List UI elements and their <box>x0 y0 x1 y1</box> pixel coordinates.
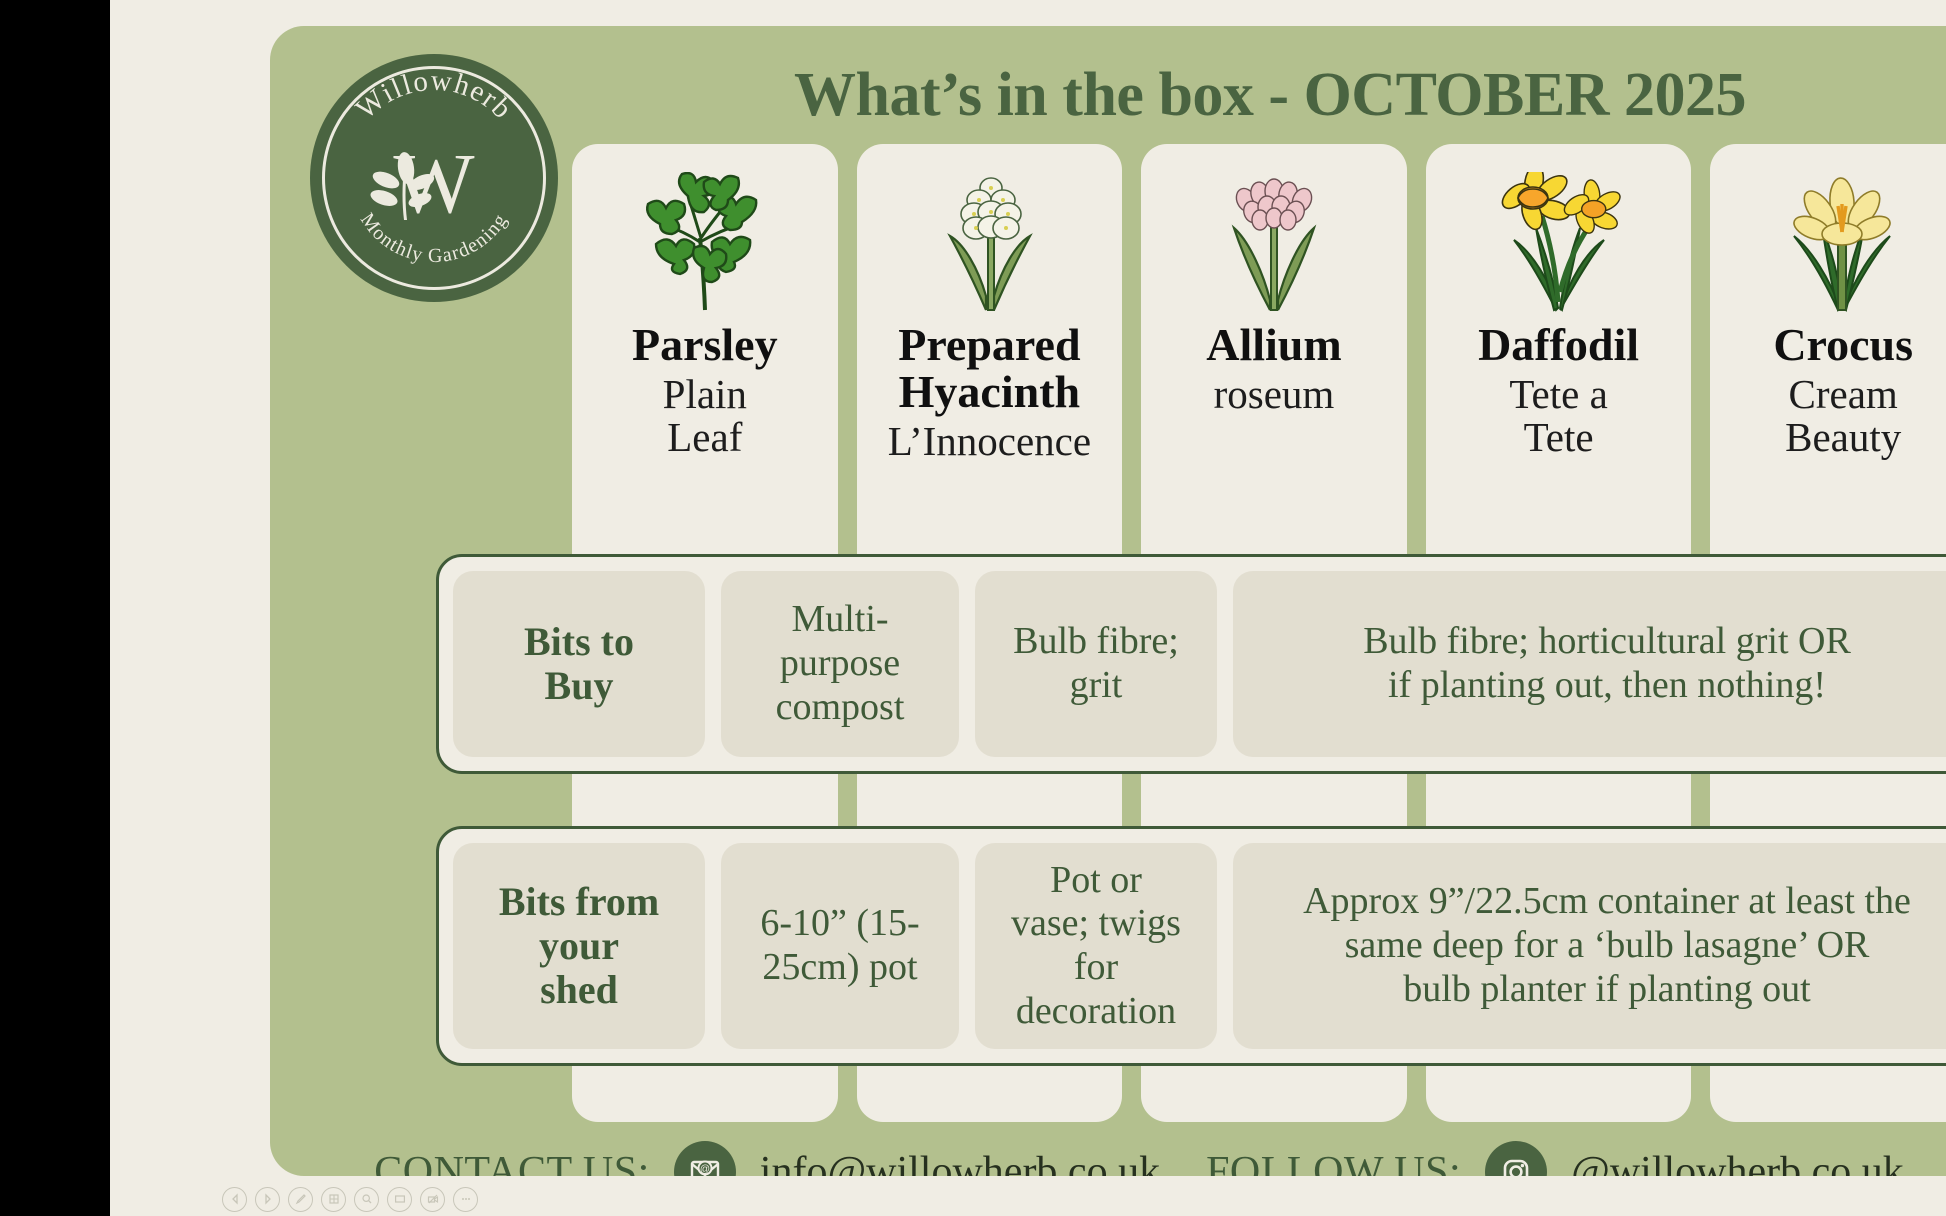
bottom-toolbar[interactable] <box>222 1184 552 1214</box>
svg-text:Willowherb: Willowherb <box>350 64 519 125</box>
forward-icon[interactable] <box>255 1187 280 1212</box>
allium-icon <box>1141 144 1407 312</box>
row-cell: Multi-purposecompost <box>721 571 959 757</box>
plant-name: PreparedHyacinth <box>857 322 1123 416</box>
page-surface: Willowherb Monthly Gardening W What’s <box>110 0 1946 1216</box>
contact-email[interactable]: info@willowherb.co.uk <box>760 1148 1160 1176</box>
plant-name: Parsley <box>572 322 838 369</box>
plant-name: Crocus <box>1710 322 1946 369</box>
contact-label: CONTACT US: <box>374 1148 650 1176</box>
plant-cultivar: PlainLeaf <box>572 373 838 460</box>
plant-cultivar: roseum <box>1141 373 1407 416</box>
follow-group: FOLLOW US: @willowherb.co.uk <box>1206 1141 1904 1176</box>
row-cell-wide: Bulb fibre; horticultural grit ORif plan… <box>1233 571 1946 757</box>
poster-panel: Willowherb Monthly Gardening W What’s <box>270 26 1946 1176</box>
daffodil-icon <box>1426 144 1692 312</box>
pen-icon[interactable] <box>288 1187 313 1212</box>
present-icon[interactable] <box>387 1187 412 1212</box>
row-bits-to-buy: Bits toBuy Multi-purposecompost Bulb fib… <box>436 554 1946 774</box>
row-cell: 6-10” (15-25cm) pot <box>721 843 959 1049</box>
plant-name: Daffodil <box>1426 322 1692 369</box>
follow-label: FOLLOW US: <box>1206 1148 1461 1176</box>
plant-name: Allium <box>1141 322 1407 369</box>
row-cell-wide: Approx 9”/22.5cm container at least thes… <box>1233 843 1946 1049</box>
row-label: Bits toBuy <box>453 571 705 757</box>
logo-top-text: Willowherb <box>350 64 519 125</box>
instagram-icon[interactable] <box>1485 1141 1547 1176</box>
grid-icon[interactable] <box>321 1187 346 1212</box>
more-icon[interactable] <box>453 1187 478 1212</box>
parsley-icon <box>572 144 838 312</box>
row-cell: Pot orvase; twigsfordecoration <box>975 843 1217 1049</box>
follow-handle[interactable]: @willowherb.co.uk <box>1571 1148 1904 1176</box>
svg-text:@: @ <box>700 1164 710 1175</box>
crocus-icon <box>1710 144 1946 312</box>
row-bits-from-your-shed: Bits fromyourshed 6-10” (15-25cm) pot Po… <box>436 826 1946 1066</box>
plant-cultivar: CreamBeauty <box>1710 373 1946 460</box>
willowherb-logo: Willowherb Monthly Gardening W <box>310 54 558 302</box>
plant-cultivar: Tete aTete <box>1426 373 1692 460</box>
contact-group: CONTACT US: @ info@willowherb.co.uk <box>374 1141 1160 1176</box>
row-label: Bits fromyourshed <box>453 843 705 1049</box>
hyacinth-icon <box>857 144 1123 312</box>
back-icon[interactable] <box>222 1187 247 1212</box>
envelope-at-icon[interactable]: @ <box>674 1141 736 1176</box>
screen: Willowherb Monthly Gardening W What’s <box>0 0 1946 1216</box>
video-off-icon[interactable] <box>420 1187 445 1212</box>
row-cell: Bulb fibre;grit <box>975 571 1217 757</box>
plant-cultivar: L’Innocence <box>857 420 1123 463</box>
logo-monogram: W <box>310 140 558 226</box>
page-title: What’s in the box - OCTOBER 2025 <box>570 60 1946 131</box>
footer: CONTACT US: @ info@willowherb.co.uk FOLL… <box>270 1132 1946 1176</box>
search-icon[interactable] <box>354 1187 379 1212</box>
